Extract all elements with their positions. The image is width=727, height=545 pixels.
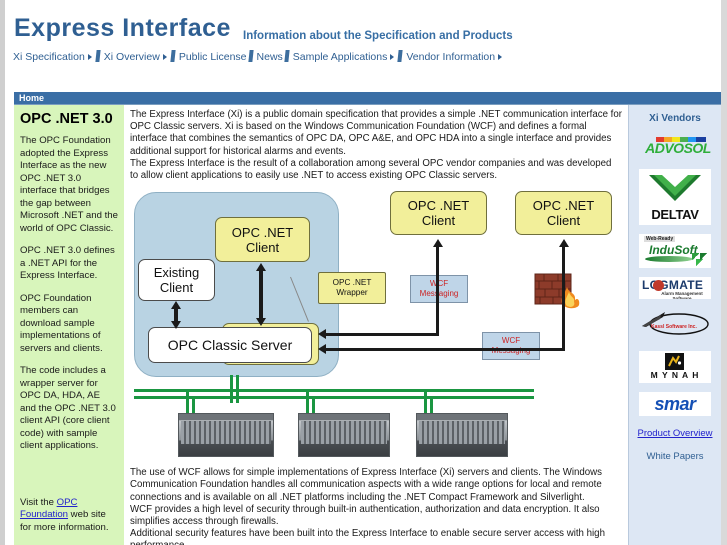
nav-separator-icon (248, 50, 253, 62)
diagram-arrow-into-server-2 (318, 344, 326, 354)
nav-item-sample-applications[interactable]: Sample Applications (293, 51, 388, 63)
logmate-globe-icon (653, 280, 664, 291)
server-rack-slots (419, 421, 505, 444)
mynah-wordmark: M Y N A H (639, 370, 711, 380)
diagram-fieldbus-dash-left-1 (134, 389, 156, 392)
nav-item-xi-overview[interactable]: Xi Overview (104, 51, 160, 63)
visit-foundation-pre: Visit the (20, 497, 57, 508)
diagram-box-opc-net-client-2: OPC .NET Client (390, 191, 487, 235)
diagram-arrow-existing-client-down (171, 321, 181, 329)
diagram-arrow-existing-client-up (171, 301, 181, 309)
diagram-box-opc-classic-server: OPC Classic Server (148, 327, 312, 363)
diagram-arrow-client2-up (433, 239, 443, 247)
indusoft-cubes-icon (692, 253, 708, 266)
firewall-brick-wall-flame-icon (534, 270, 586, 310)
site-header: Express Interface Information about the … (5, 0, 721, 92)
site-title: Express Interface (14, 14, 231, 43)
left-sidebar-visit-foundation: Visit the OPC Foundation web site for mo… (20, 497, 118, 535)
diagram-path-client3-vertical (562, 247, 565, 351)
left-sidebar-heading: OPC .NET 3.0 (20, 111, 118, 127)
intro-paragraph-1: The Express Interface (Xi) is a public d… (130, 109, 622, 158)
product-overview-link[interactable]: Product Overview (629, 428, 721, 439)
diagram-fieldbus-drop-rack-1a (186, 389, 189, 413)
indusoft-wordmark: InduSoft (649, 243, 698, 257)
diagram-arrow-inner-client-down (256, 318, 266, 326)
vendor-logo-advosol[interactable]: ADVOSOL (639, 134, 711, 160)
nav-item-vendor-information[interactable]: Vendor Information (406, 51, 495, 63)
diagram-fieldbus-drop-rack-2b (312, 396, 315, 413)
smar-wordmark: smar (639, 394, 711, 415)
vendor-logo-logmate[interactable]: LOGMATE Alarm Management Software (639, 277, 711, 299)
vendors-title: Xi Vendors (629, 113, 721, 124)
mynah-bird-mark-icon (665, 353, 684, 370)
diagram-fieldbus-drop-rack-2a (306, 389, 309, 413)
vendor-logo-deltav[interactable]: DELTAV (639, 169, 711, 225)
diagram-arrow-into-server-1 (318, 329, 326, 339)
diagram-arrow-inner-client-line (259, 269, 263, 321)
right-sidebar: Xi Vendors ADVOSOL DELTAV Web-Ready (628, 105, 721, 545)
vendor-logo-mynah[interactable]: M Y N A H (639, 351, 711, 383)
diagram-fieldbus-drop-rack-1b (192, 396, 195, 413)
left-sidebar-paragraph-2: OPC .NET 3.0 defines a .NET API for the … (20, 245, 118, 283)
diagram-path-client2-vertical (436, 247, 439, 336)
architecture-diagram: OPC .NET Client Existing Client OPC Clas… (130, 187, 626, 467)
nav-item-news[interactable]: News (257, 51, 283, 63)
indusoft-tagline: Web-Ready (644, 236, 675, 242)
diagram-box-opc-net-client-inner: OPC .NET Client (215, 217, 310, 262)
page-body: OPC .NET 3.0 The OPC Foundation adopted … (5, 105, 721, 545)
diagram-fieldbus-main-line-1 (134, 389, 534, 392)
indusoft-swoosh-icon (645, 256, 693, 262)
diagram-box-opc-net-client-3: OPC .NET Client (515, 191, 612, 235)
chevron-right-icon (498, 54, 502, 60)
nav-separator-icon (170, 50, 175, 62)
vendor-logo-smar[interactable]: smar (639, 392, 711, 416)
breadcrumb: Home (14, 92, 721, 105)
left-sidebar: OPC .NET 3.0 The OPC Foundation adopted … (14, 105, 124, 545)
advosol-wordmark: ADVOSOL (645, 140, 711, 156)
diagram-arrow-client3-up (559, 239, 569, 247)
server-rack-icon (416, 413, 508, 457)
diagram-box-opc-net-wrapper: OPC .NET Wrapper (318, 272, 386, 304)
diagram-box-wcf-messaging-2: WCF Messaging (482, 332, 540, 360)
outro-paragraph-3: Additional security features have been b… (130, 528, 622, 545)
logmate-tagline: Alarm Management Software (653, 291, 711, 299)
main-content: The Express Interface (Xi) is a public d… (126, 105, 626, 545)
server-rack-icon (178, 413, 274, 457)
white-papers-link[interactable]: White Papers (629, 451, 721, 462)
vendor-logo-kassl[interactable]: Kassl Software Inc. (639, 308, 711, 342)
outro-paragraph-1: The use of WCF allows for simple impleme… (130, 467, 622, 504)
kassl-wordmark: Kassl Software Inc. (651, 324, 697, 330)
chevron-right-icon (163, 54, 167, 60)
left-sidebar-spacer (20, 463, 118, 497)
intro-paragraph-2: The Express Interface is the result of a… (130, 158, 622, 182)
deltav-chevron-icon (639, 171, 711, 211)
diagram-fieldbus-drop-rack-3a (424, 389, 427, 413)
diagram-arrow-inner-client-up (256, 263, 266, 271)
diagram-path-client3-horizontal (326, 348, 565, 351)
chevron-right-icon (390, 54, 394, 60)
page-right-gutter (721, 0, 727, 545)
server-rack-slots (181, 421, 271, 444)
diagram-path-client2-horizontal (326, 333, 438, 336)
outro-paragraph-2: WCF provides a high level of security th… (130, 504, 622, 528)
diagram-fieldbus-drop-rack-3b (430, 396, 433, 413)
logmate-wordmark: LOGMATE (642, 278, 703, 292)
nav-item-xi-specification[interactable]: Xi Specification (13, 51, 85, 63)
server-rack-slots (301, 421, 387, 444)
left-sidebar-paragraph-1: The OPC Foundation adopted the Express I… (20, 135, 118, 235)
nav-separator-icon (95, 50, 100, 62)
page-root: Express Interface Information about the … (0, 0, 727, 545)
diagram-box-wcf-messaging-1: WCF Messaging (410, 275, 468, 303)
nav-separator-icon (284, 50, 289, 62)
vendor-logo-indusoft[interactable]: Web-Ready InduSoft (639, 234, 711, 268)
left-sidebar-paragraph-3: OPC Foundation members can download samp… (20, 293, 118, 356)
chevron-right-icon (88, 54, 92, 60)
breadcrumb-item-home[interactable]: Home (19, 93, 44, 103)
left-sidebar-paragraph-4: The code includes a wrapper server for O… (20, 365, 118, 453)
nav-separator-icon (398, 50, 403, 62)
deltav-wordmark: DELTAV (639, 207, 711, 222)
main-navigation: Xi SpecificationXi OverviewPublic Licens… (13, 50, 613, 64)
page-inner: Express Interface Information about the … (5, 0, 721, 545)
server-rack-icon (298, 413, 390, 457)
diagram-box-existing-client: Existing Client (138, 259, 215, 301)
diagram-fieldbus-dash-right-1 (512, 389, 534, 392)
nav-item-public-license[interactable]: Public License (179, 51, 247, 63)
site-subtitle: Information about the Specification and … (243, 30, 513, 42)
